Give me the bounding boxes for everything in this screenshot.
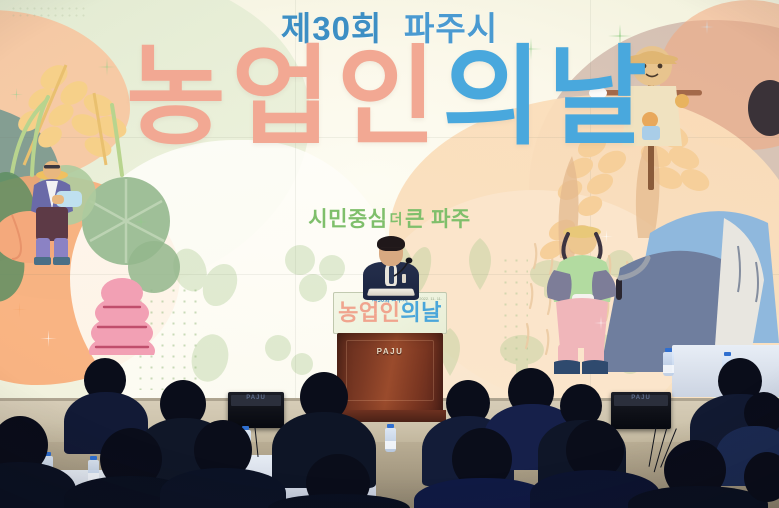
speaker-podium: 제30회 파주시 농업인의날 2022. 11. 11. PAJU [333,292,447,422]
sparkle-icon-7 [12,302,27,317]
sparkle-icon-9 [594,316,608,330]
bottle-label [663,365,674,373]
subtitle-small: 더 [390,211,403,227]
podium-wooden-body: PAJU [337,333,443,419]
podium-title-char-5: 날 [421,300,442,325]
title-char-2: 업 [231,36,336,157]
podium-title-char-1: 농 [338,300,359,325]
subtitle-tail: 큰 파주 [405,208,471,231]
podium-sign-date: 2022. 11. 11. [419,296,442,301]
audience-shoulders-11 [160,468,286,508]
title-char-1: 농 [126,36,231,157]
microphone-icon [392,256,414,278]
title-char-5: 날 [548,36,653,157]
stage-monitor-right: PAJU [611,392,671,429]
sparkle-icon-6 [40,330,57,347]
podium-sign-title: 농업인의날 [334,302,446,324]
podium-title-char-4: 의 [400,300,421,325]
podium-title-char-2: 업 [359,300,380,325]
bottle-label [385,441,396,449]
banner-main-title: 농업인의날 [0,34,779,159]
bottle-body [663,352,674,376]
podium-title-char-3: 인 [380,300,401,325]
monitor-label-right: PAJU [611,395,671,401]
photograph-scene: 제30회 파주시 농업인의날 시민중심더큰 파주 제30회 파주시 농업인의날 … [0,0,779,508]
podium-logo-text: PAJU [337,347,443,356]
speaker-glasses [381,247,401,252]
title-char-4: 의 [442,36,547,157]
podium-document [367,289,415,296]
bottle-body [385,428,396,452]
monitor-label-left: PAJU [228,395,284,401]
subtitle-main: 시민중심 [308,208,387,231]
banner-subtitle: 시민중심더큰 파주 [0,203,779,233]
title-char-3: 인 [337,36,442,157]
